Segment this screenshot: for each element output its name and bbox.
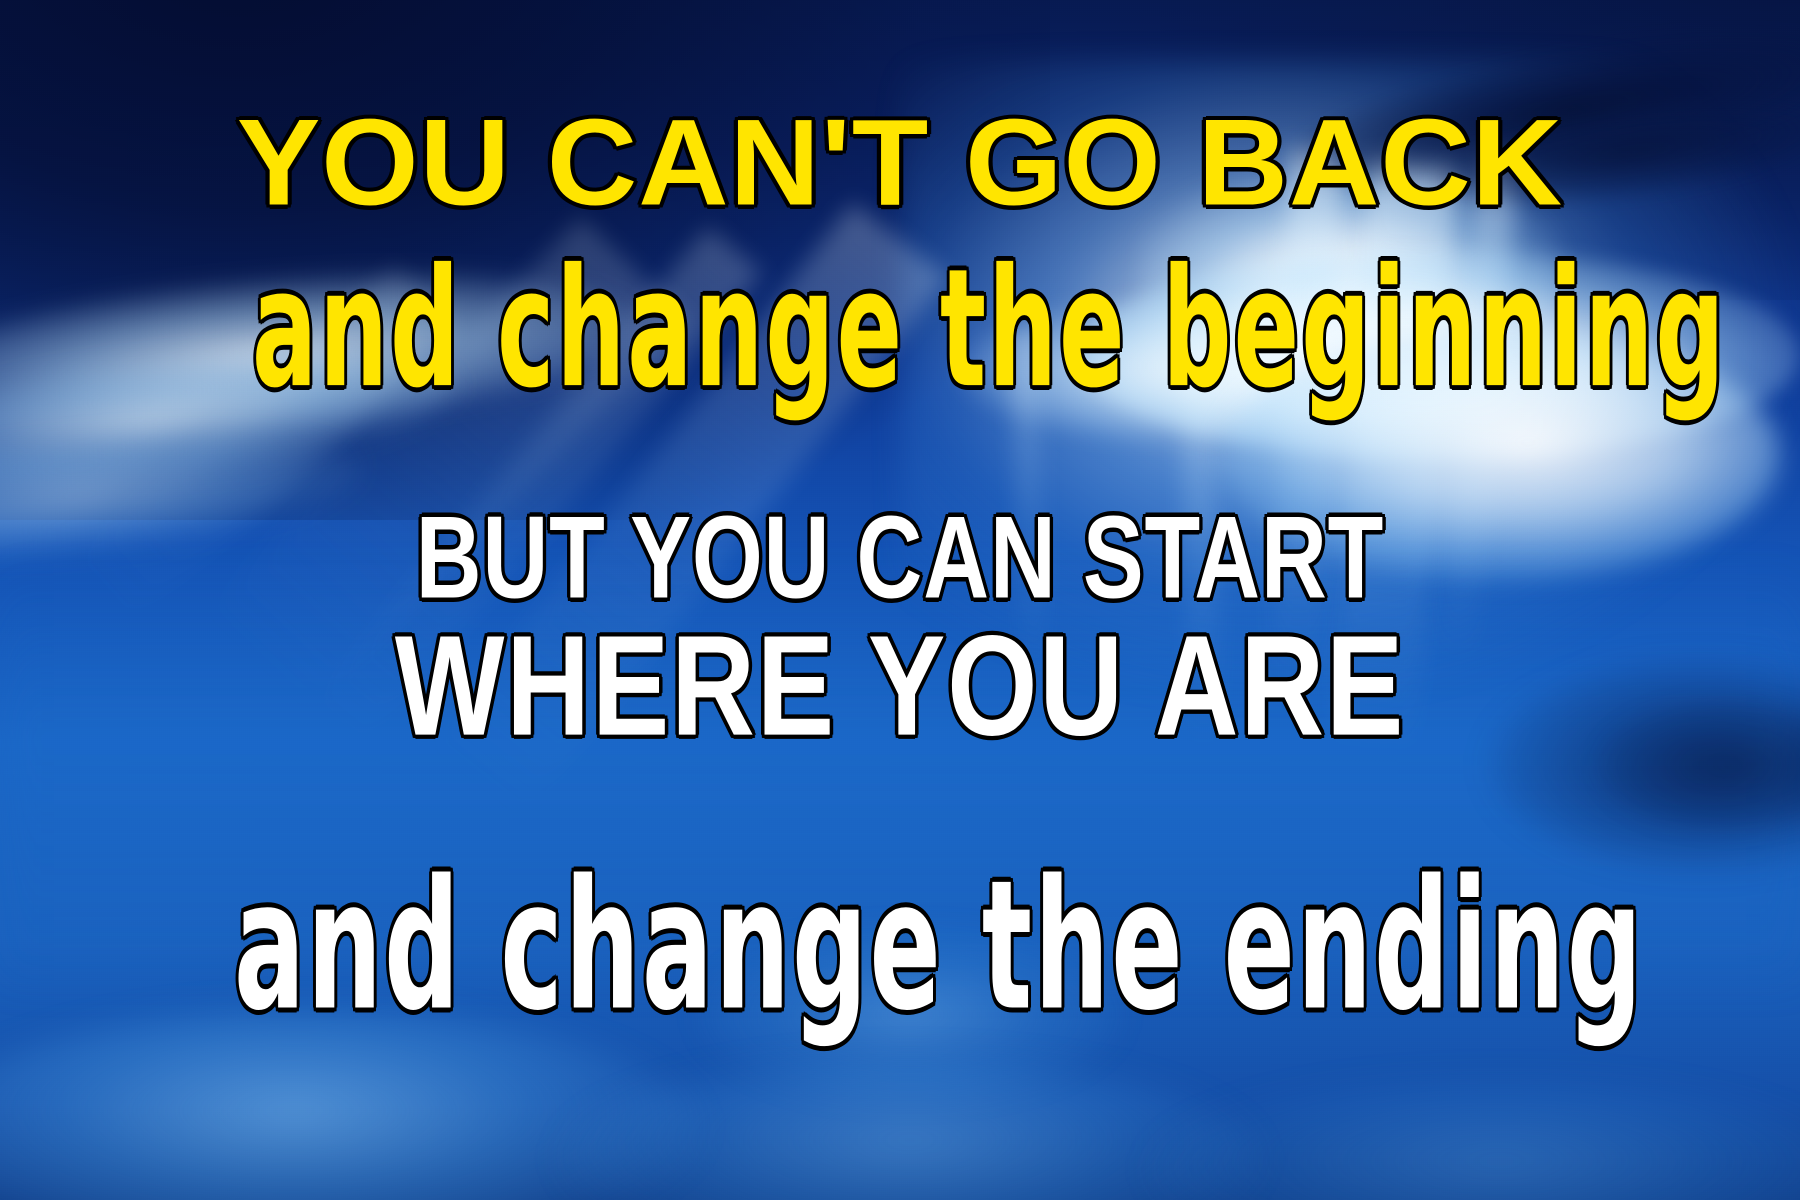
- quote-line-3: BUT YOU CAN START: [126, 500, 1674, 617]
- quote-text-block: YOU CAN'T GO BACK and change the beginni…: [0, 0, 1800, 1200]
- quote-line-2: and change the beginning: [252, 247, 1548, 410]
- quote-poster: YOU CAN'T GO BACK and change the beginni…: [0, 0, 1800, 1200]
- quote-line-4: WHERE YOU ARE: [108, 615, 1692, 758]
- quote-line-1: YOU CAN'T GO BACK: [0, 102, 1800, 225]
- quote-line-5: and change the ending: [234, 858, 1566, 1037]
